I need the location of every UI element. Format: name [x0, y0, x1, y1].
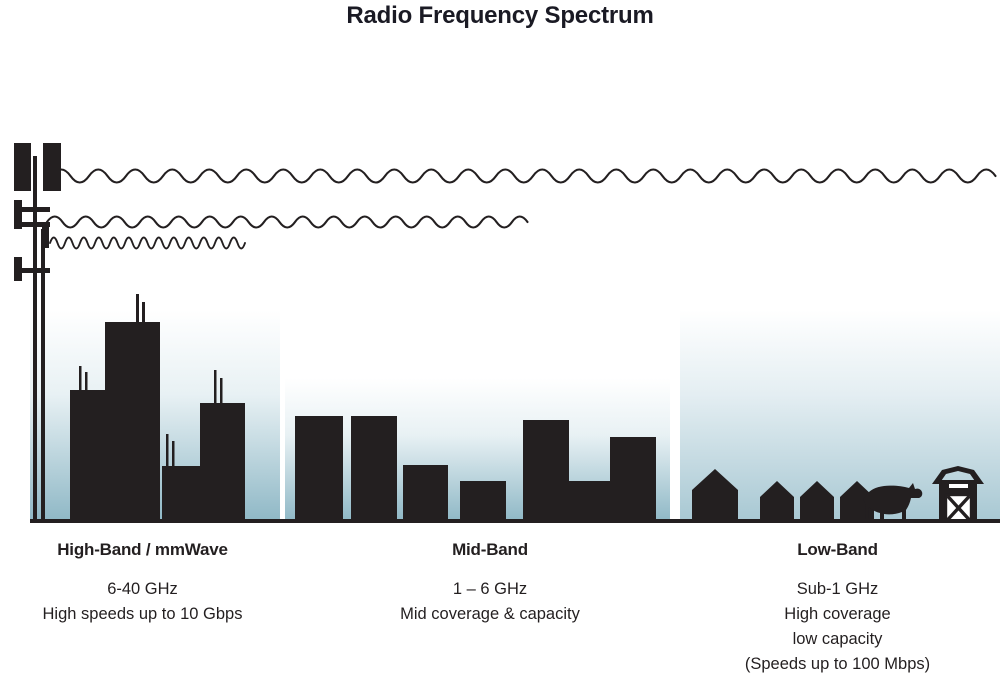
tower-mast-left	[33, 156, 37, 521]
spire	[85, 372, 88, 392]
band-labels: High-Band / mmWave 6-40 GHz High speeds …	[0, 540, 1000, 700]
band-title-low-band: Low-Band	[675, 540, 1000, 560]
band-desc-line: Mid coverage & capacity	[330, 602, 650, 627]
band-title-high-band: High-Band / mmWave	[0, 540, 285, 560]
tower-crossbar-upper	[14, 207, 50, 212]
short-wavelength-wave	[50, 238, 245, 249]
band-desc-line: low capacity	[675, 627, 1000, 652]
spire	[220, 378, 223, 405]
building	[610, 437, 656, 521]
long-wavelength-wave	[52, 170, 996, 183]
band-desc-line: High speeds up to 10 Gbps	[0, 602, 285, 627]
band-desc-line: 1 – 6 GHz	[330, 577, 650, 602]
band-desc-line: 6-40 GHz	[0, 577, 285, 602]
tower-crossbar-mid	[14, 222, 50, 227]
ground-baseline	[30, 519, 1000, 523]
spire	[166, 434, 169, 468]
spire	[172, 441, 175, 468]
radio-frequency-spectrum-infographic: Radio Frequency Spectrum	[0, 0, 1000, 700]
band-desc-line: (Speeds up to 100 Mbps)	[675, 652, 1000, 677]
radio-waves	[47, 170, 996, 249]
medium-wavelength-wave	[47, 217, 528, 228]
building	[403, 465, 448, 521]
barn-hayloft-window	[949, 484, 968, 488]
spectrum-illustration	[0, 120, 1000, 530]
band-description-low-band: Sub-1 GHz High coverage low capacity (Sp…	[675, 577, 1000, 677]
building	[295, 416, 343, 521]
building	[162, 466, 202, 521]
band-desc-line: Sub-1 GHz	[675, 577, 1000, 602]
band-description-mid-band: 1 – 6 GHz Mid coverage & capacity	[330, 577, 650, 627]
building	[351, 416, 397, 521]
spire	[136, 294, 139, 324]
building	[460, 481, 506, 521]
band-column-high-band: High-Band / mmWave 6-40 GHz High speeds …	[0, 540, 285, 627]
tower-mast-right	[41, 229, 45, 521]
building	[569, 481, 610, 521]
spire	[79, 366, 82, 392]
spire	[214, 370, 217, 405]
tower-antenna-panel-right	[43, 143, 61, 191]
building	[105, 322, 160, 521]
tower-antenna-panel-left	[14, 143, 31, 191]
band-title-mid-band: Mid-Band	[330, 540, 650, 560]
band-column-mid-band: Mid-Band 1 – 6 GHz Mid coverage & capaci…	[330, 540, 650, 627]
spire	[142, 302, 145, 324]
building	[523, 420, 569, 521]
band-description-high-band: 6-40 GHz High speeds up to 10 Gbps	[0, 577, 285, 627]
band-desc-line: High coverage	[675, 602, 1000, 627]
building	[200, 403, 245, 521]
page-title: Radio Frequency Spectrum	[0, 2, 1000, 30]
band-column-low-band: Low-Band Sub-1 GHz High coverage low cap…	[675, 540, 1000, 677]
